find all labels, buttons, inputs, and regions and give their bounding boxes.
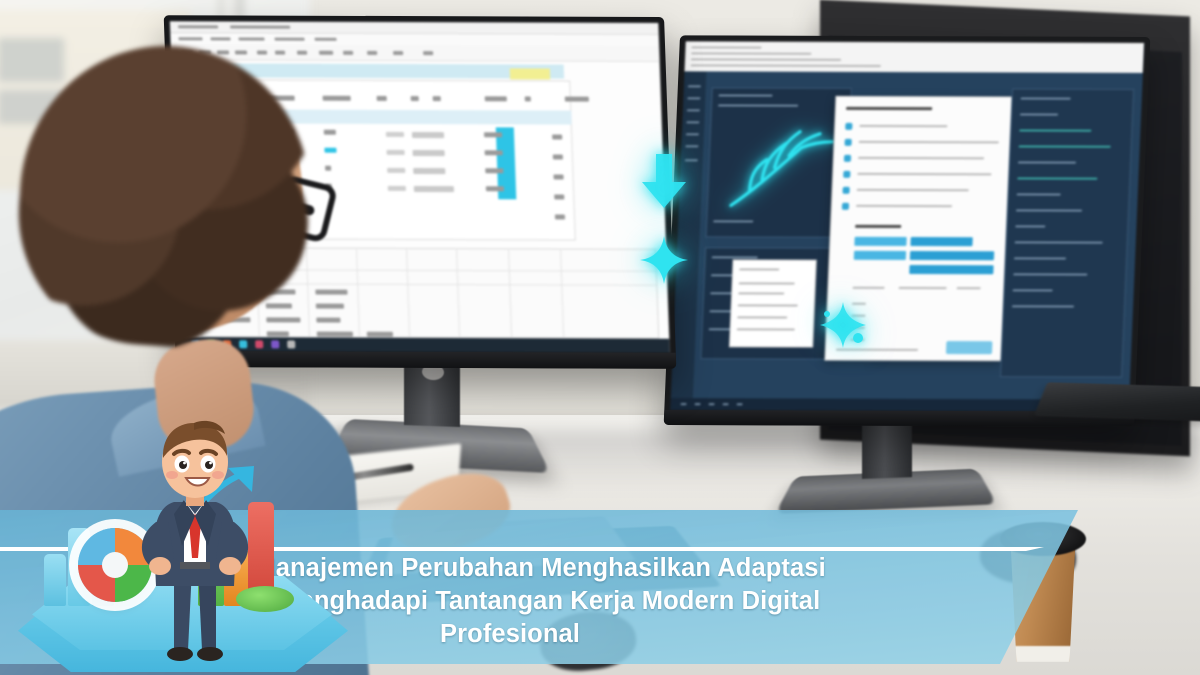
character-hand-right bbox=[219, 557, 241, 575]
left-monitor-neck bbox=[404, 359, 460, 427]
keyboard[interactable] bbox=[1034, 382, 1200, 422]
right-app-dialog-primary-button[interactable] bbox=[946, 341, 993, 354]
star-glow-icon bbox=[818, 300, 868, 350]
screenshot-stage: Skill Manajemen Perubahan Menghasilkan A… bbox=[0, 0, 1200, 675]
left-app-highlight-cell bbox=[510, 68, 550, 79]
3d-businessman-illustration bbox=[10, 408, 370, 675]
down-arrow-glow-icon bbox=[636, 152, 692, 210]
neon-line-art-graphic bbox=[712, 103, 843, 223]
right-monitor-neck bbox=[862, 419, 912, 479]
right-app-popup-window bbox=[729, 259, 817, 347]
right-app-code-list bbox=[1000, 88, 1134, 377]
right-monitor-screen bbox=[670, 41, 1144, 411]
businessman-character bbox=[130, 418, 260, 666]
curly-hair bbox=[10, 36, 320, 355]
illustration-bar-1 bbox=[44, 554, 66, 606]
right-app-titlebar bbox=[684, 41, 1144, 73]
right-monitor bbox=[664, 35, 1151, 426]
diamond-glow-icon bbox=[640, 236, 688, 284]
character-hand-left bbox=[149, 557, 171, 575]
